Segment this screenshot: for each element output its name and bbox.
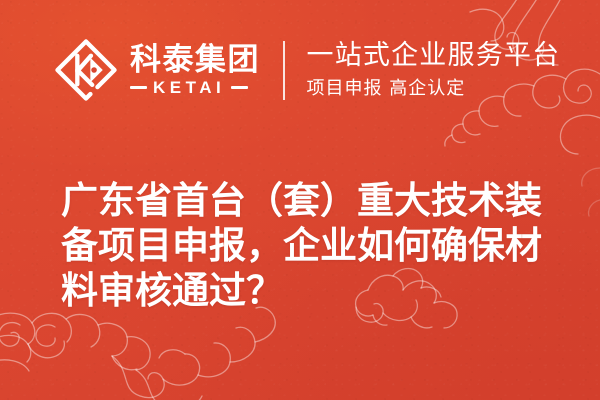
header-divider (283, 41, 285, 100)
brand-name-en-row: KETAI (130, 79, 260, 96)
promo-banner: 科泰集团 KETAI 一站式企业服务平台 项目申报 高企认定 广东省首台（套）重… (0, 0, 600, 400)
dash-right-icon (231, 86, 248, 89)
brand-logo[interactable]: 科泰集团 KETAI (55, 39, 260, 101)
tagline-sub: 项目申报 高企认定 (307, 78, 561, 100)
brand-name-en: KETAI (153, 79, 225, 96)
ketai-diamond-kd-monogram-icon (55, 39, 117, 101)
tagline-main: 一站式企业服务平台 (307, 40, 561, 72)
page-title: 广东省首台（套）重大技术装备项目申报，企业如何确保材料审核通过？ (61, 178, 561, 313)
banner-header: 科泰集团 KETAI 一站式企业服务平台 项目申报 高企认定 (0, 0, 600, 140)
brand-wordmark: 科泰集团 KETAI (130, 44, 260, 97)
brand-name-cn: 科泰集团 (130, 44, 260, 77)
dash-left-icon (130, 86, 147, 89)
brand-tagline: 一站式企业服务平台 项目申报 高企认定 (307, 40, 561, 99)
